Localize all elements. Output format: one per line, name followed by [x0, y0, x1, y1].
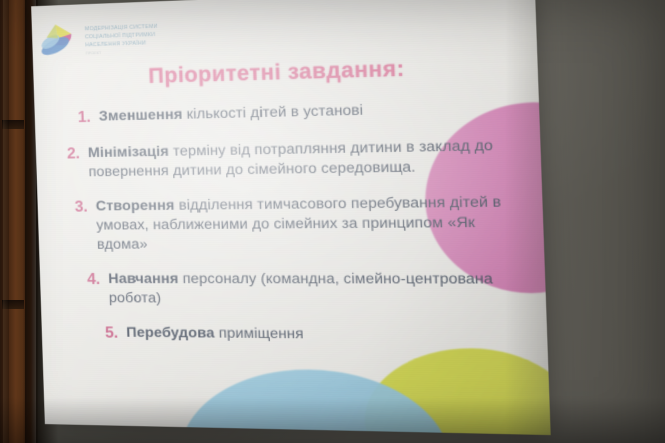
list-item-text-rest: приміщення: [214, 325, 304, 342]
list-item: 5. Перебудова приміщення: [51, 323, 533, 349]
list-item-text-bold: Створення: [95, 197, 174, 214]
list-item-text-rest: кількості дітей в установі: [182, 102, 363, 123]
list-item-text-bold: Перебудова: [126, 325, 215, 342]
list-item-text-bold: Мінімізація: [88, 143, 169, 161]
list-item-text-bold: Навчання: [108, 271, 179, 287]
list-item-number: 2.: [60, 144, 81, 165]
slide-logo: Модернізація системи соціальної підтримк…: [38, 18, 159, 59]
list-item-text: Зменшення кількості дітей в установі: [99, 101, 364, 127]
logo-subtext: проект: [86, 49, 159, 57]
multicolor-fan-logo-icon: [35, 18, 81, 61]
list-item-number: 4.: [80, 270, 101, 291]
list-item-text: Мінімізація терміну від потрапляння дити…: [88, 135, 528, 182]
door-panel: [0, 0, 26, 443]
list-item: 1. Зменшення кількості дітей в установі: [44, 97, 525, 129]
photo-scene: Модернізація системи соціальної підтримк…: [0, 0, 665, 443]
list-item-text: Навчання персоналу (командна, сімейно-це…: [108, 270, 494, 311]
logo-text-block: Модернізація системи соціальної підтримк…: [85, 18, 159, 58]
list-item: 2. Мінімізація терміну від потрапляння д…: [46, 135, 528, 182]
list-item-number: 1.: [70, 108, 91, 129]
projection-screen: Модернізація системи соціальної підтримк…: [31, 0, 551, 435]
list-item-text: Створення відділення тимчасового перебув…: [95, 192, 514, 254]
list-item-text: Перебудова приміщення: [126, 324, 304, 345]
presentation-slide: Модернізація системи соціальної підтримк…: [31, 0, 551, 435]
list-item-text-bold: Зменшення: [99, 107, 183, 125]
door-hinge-upper: [2, 120, 24, 129]
list-item-number: 3.: [67, 197, 88, 218]
logo-line-3: населення України: [85, 39, 158, 50]
slide-title: Пріоритетні завдання:: [148, 57, 405, 89]
list-item: 4. Навчання персоналу (командна, сімейно…: [50, 270, 533, 311]
list-item: 3. Створення відділення тимчасового пере…: [47, 192, 530, 255]
priority-task-list: 1. Зменшення кількості дітей в установі …: [44, 97, 534, 348]
list-item-number: 5.: [98, 323, 119, 344]
door-hinge-lower: [2, 300, 24, 309]
